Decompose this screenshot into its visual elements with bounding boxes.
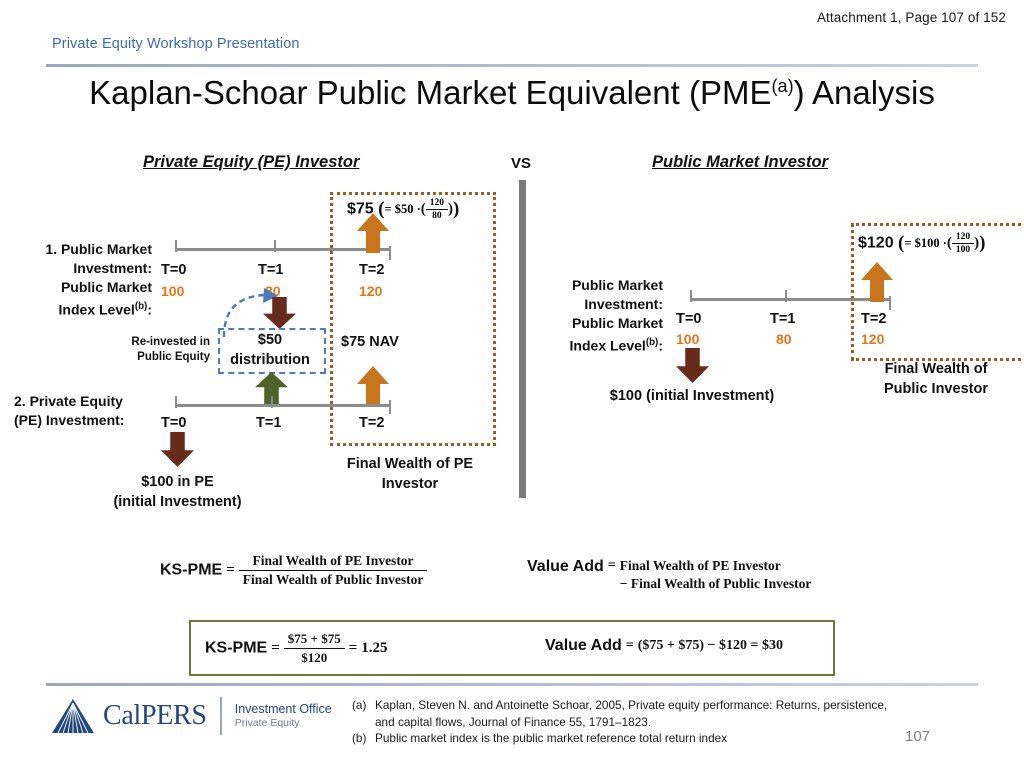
calpers-fan-icon — [52, 699, 94, 733]
pe-row1-result-frac-num: 120 — [426, 198, 448, 210]
pe-nav-label: $75 NAV — [341, 334, 399, 350]
pe-row1-index-t2: 120 — [359, 283, 382, 299]
pm-index-label-line2: Index Level(b): — [555, 333, 663, 356]
distribution-amount: $50 — [218, 330, 322, 350]
ks-pme-result-value: 1.25 — [361, 640, 387, 656]
pm-label-line2: Investment: — [555, 295, 663, 314]
pm-initial-investment-caption: $100 (initial Investment) — [602, 386, 782, 406]
pe-row1-time-t1: T=1 — [258, 262, 283, 278]
reinvest-tag-line1: Re-invested in — [98, 335, 210, 350]
pe-row1-tick-t0 — [175, 240, 177, 252]
pm-result-formula: $120 (= $100 ·( 120 100 )) — [858, 232, 986, 255]
pe-final-wealth-highlight-box — [330, 192, 496, 446]
pe-row2-tick-t0 — [175, 396, 177, 408]
pm-time-t0: T=0 — [676, 311, 701, 327]
pm-final-wealth-caption: Final Wealth of Public Investor — [853, 359, 1019, 399]
pe-row1-index-label-line1: Public Market — [22, 278, 152, 297]
ks-pme-result-numerator: $75 + $75 — [284, 631, 345, 649]
pm-index-label-text: Index Level — [570, 338, 646, 354]
ks-pme-result-result-equals: = — [345, 640, 362, 657]
pe-row1-label-line2: Investment: — [22, 259, 152, 278]
footnote-a-text: Kaplan, Steven N. and Antoinette Schoar,… — [375, 697, 887, 730]
pe-row1-index-label-sup: (b) — [135, 301, 148, 312]
pe-final-wealth-caption: Final Wealth of PE Investor — [325, 454, 495, 494]
ks-pme-result-denominator: $120 — [284, 649, 345, 666]
pe-row2-label-line2: (PE) Investment: — [14, 411, 152, 430]
pm-label-line1: Public Market — [555, 276, 663, 295]
page-title-main: Kaplan-Schoar Public Market Equivalent (… — [89, 74, 771, 111]
footnote-a: (a) Kaplan, Steven N. and Antoinette Sch… — [352, 697, 887, 730]
pe-row2-tick-t1 — [271, 396, 273, 408]
pe-row1-index-t0: 100 — [161, 283, 184, 299]
value-add-result-lhs: Value Add — [545, 637, 622, 654]
ks-pme-definition-equals: = — [222, 562, 239, 579]
page-title: Kaplan-Schoar Public Market Equivalent (… — [0, 74, 1024, 112]
footnote-b: (b) Public market index is the public ma… — [352, 730, 887, 747]
pm-final-wealth-line2: Public Investor — [853, 379, 1019, 399]
pm-result-prefix: = $100 · — [904, 236, 947, 250]
value-add-result-expression: ($75 + $75) − $120 = $30 — [638, 638, 783, 653]
value-add-definition-lhs: Value Add — [527, 558, 604, 575]
value-add-definition-term2: − Final Wealth of Public Investor — [620, 576, 812, 592]
pe-row1-time-t0: T=0 — [161, 262, 186, 278]
pm-index-label-line1: Public Market — [555, 314, 663, 333]
logo-separator — [220, 697, 222, 735]
value-add-result-equals: = — [622, 638, 638, 654]
pm-result-frac-den: 100 — [952, 244, 974, 255]
pe-row1-label-line1: 1. Public Market — [22, 240, 152, 259]
pm-final-wealth-line1: Final Wealth of — [853, 359, 1019, 379]
pm-initial-investment-arrow — [676, 348, 709, 383]
calpers-wordmark: CalPERS — [103, 701, 207, 731]
ks-pme-definition: KS-PME= Final Wealth of PE Investor Fina… — [160, 553, 427, 588]
pm-index-label-colon: : — [658, 338, 663, 354]
pe-initial-investment-arrow — [161, 432, 194, 467]
pm-index-t0: 100 — [676, 331, 699, 347]
pe-initial-line1: $100 in PE — [95, 472, 260, 492]
pm-time-t2: T=2 — [861, 311, 886, 327]
pe-row1-index-label-text: Index Level — [59, 302, 135, 318]
pe-final-wealth-line1: Final Wealth of PE — [325, 454, 495, 474]
pe-row1-index-label-colon: : — [147, 302, 152, 318]
pe-row2-time-t0: T=0 — [161, 415, 186, 431]
pe-row1-index-label-line2: Index Level(b): — [22, 297, 152, 320]
pe-row1-time-t2: T=2 — [359, 262, 384, 278]
pe-row2-tick-t2 — [389, 400, 391, 414]
ks-pme-definition-numerator: Final Wealth of PE Investor — [239, 553, 428, 571]
value-add-definition-term1: Final Wealth of PE Investor — [620, 558, 812, 574]
footnote-a-line2: and capital flows, Journal of Finance 55… — [375, 715, 651, 729]
pe-row1-tick-t2 — [389, 246, 391, 260]
pe-investor-panel-heading: Private Equity (PE) Investor — [143, 153, 359, 172]
ks-pme-result: KS-PME= $75 + $75 $120 =1.25 — [205, 631, 388, 666]
pm-result-amount: $120 — [858, 235, 894, 252]
vs-label: VS — [511, 155, 531, 172]
footnote-a-line1: Kaplan, Steven N. and Antoinette Schoar,… — [375, 698, 887, 712]
footnote-b-line1: Public market index is the public market… — [375, 730, 727, 747]
value-add-definition-equals: = — [604, 558, 620, 574]
logo-subtitle: Investment Office Private Equity — [235, 702, 332, 730]
attachment-note: Attachment 1, Page 107 of 152 — [817, 10, 1006, 25]
page-title-tail: ) Analysis — [794, 74, 935, 111]
pe-initial-line2: (initial Investment) — [95, 492, 260, 512]
pm-index-label-sup: (b) — [646, 337, 659, 348]
pe-row1-result-frac-den: 80 — [426, 210, 448, 221]
header-divider — [46, 64, 978, 67]
footnotes: (a) Kaplan, Steven N. and Antoinette Sch… — [352, 697, 887, 747]
ks-pme-result-lhs: KS-PME — [205, 640, 267, 657]
pe-row1-result-amount: $75 — [347, 201, 374, 218]
ks-pme-result-equals: = — [267, 640, 284, 657]
pe-row1-tick-t1 — [274, 240, 276, 252]
value-add-definition: Value Add= Final Wealth of PE Investor −… — [527, 558, 811, 592]
distribution-box-text: $50 distribution — [218, 330, 322, 370]
vs-divider — [519, 180, 526, 498]
logo-subtitle-line1: Investment Office — [235, 702, 332, 717]
logo-subtitle-line2: Private Equity — [235, 717, 332, 730]
distribution-word: distribution — [218, 350, 322, 370]
pe-row1-label: 1. Public Market Investment: Public Mark… — [22, 240, 152, 320]
deck-subtitle: Private Equity Workshop Presentation — [52, 36, 300, 52]
ks-pme-definition-denominator: Final Wealth of Public Investor — [239, 571, 428, 588]
pm-tick-t0 — [690, 290, 692, 302]
pe-row1-result-prefix: = $50 · — [384, 202, 420, 216]
pm-row-label: Public Market Investment: Public Market … — [555, 276, 663, 356]
value-add-result: Value Add=($75 + $75) − $120 = $30 — [545, 637, 783, 655]
page-title-superscript: (a) — [771, 76, 793, 96]
ks-pme-definition-lhs: KS-PME — [160, 562, 222, 579]
pe-row2-time-t1: T=1 — [256, 415, 281, 431]
public-market-investor-panel-heading: Public Market Investor — [652, 153, 828, 172]
reinvest-tag-line2: Public Equity — [98, 350, 210, 365]
pe-row1-axis — [175, 248, 390, 251]
reinvest-tag: Re-invested in Public Equity — [98, 335, 210, 365]
calpers-logo: CalPERS Investment Office Private Equity — [52, 697, 332, 735]
pe-row2-label-line1: 2. Private Equity — [14, 392, 152, 411]
pe-row2-axis — [175, 404, 390, 407]
pm-tick-t2 — [889, 296, 891, 310]
pm-index-t2: 120 — [861, 331, 884, 347]
footnote-b-marker: (b) — [352, 730, 368, 747]
footnote-a-marker: (a) — [352, 697, 368, 730]
pm-tick-t1 — [785, 290, 787, 302]
pe-initial-investment-caption: $100 in PE (initial Investment) — [95, 472, 260, 512]
page-number: 107 — [905, 728, 930, 745]
pm-result-frac-num: 120 — [952, 232, 974, 244]
pm-index-t1: 80 — [776, 331, 792, 347]
pe-row1-result-formula: $75 (= $50 ·( 120 80 )) — [347, 198, 459, 221]
pe-row2-time-t2: T=2 — [359, 415, 384, 431]
footer-divider — [46, 683, 978, 686]
pe-row2-label: 2. Private Equity (PE) Investment: — [14, 392, 152, 430]
pm-time-t1: T=1 — [770, 311, 795, 327]
pm-axis — [690, 298, 890, 301]
pe-final-wealth-line2: Investor — [325, 474, 495, 494]
